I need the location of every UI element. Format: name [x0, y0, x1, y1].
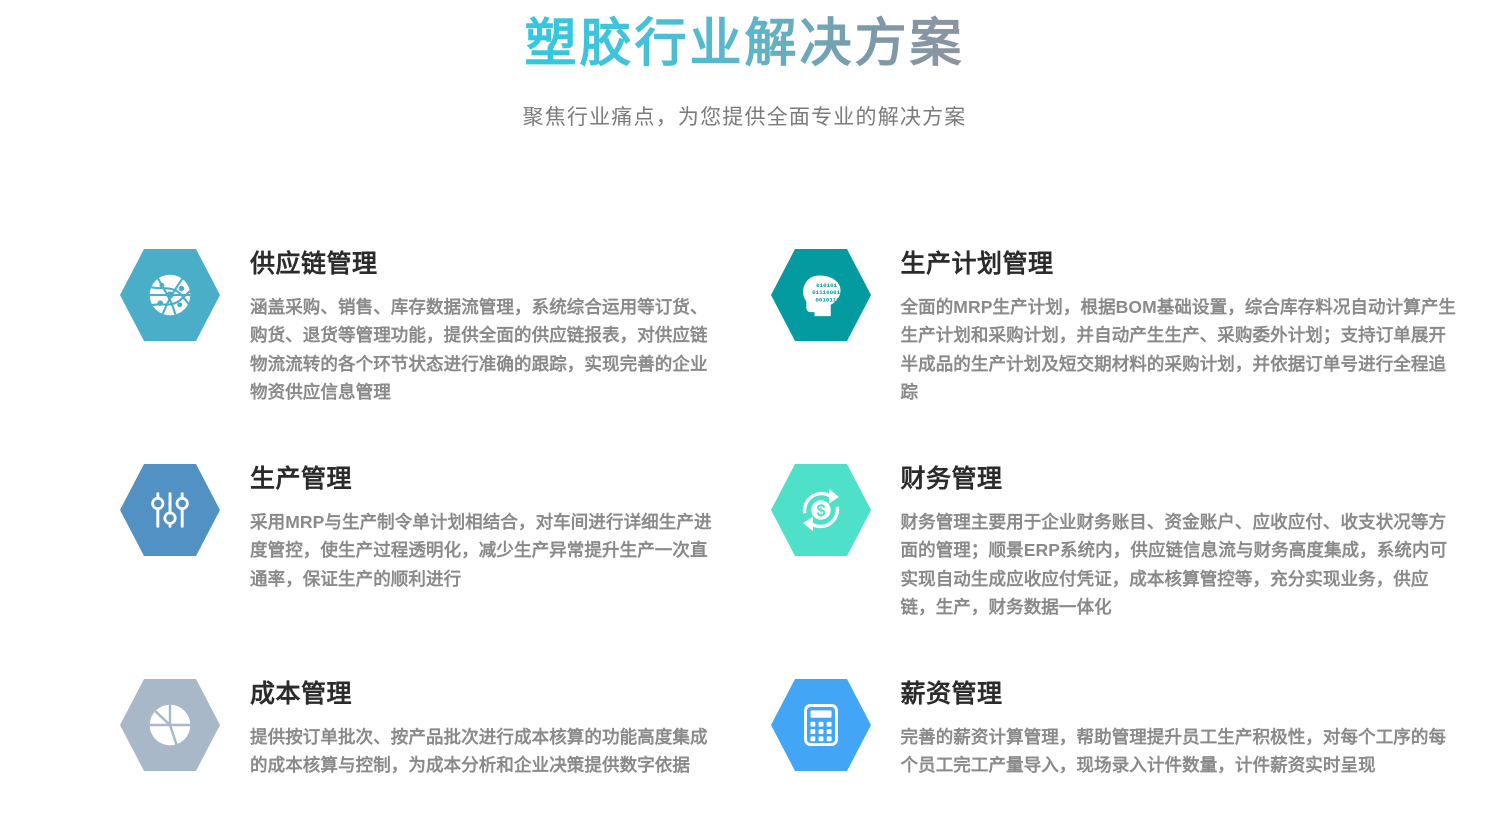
svg-text:010101: 010101 — [816, 282, 838, 289]
card-title: 生产管理 — [250, 464, 722, 494]
pie-chart-icon — [144, 699, 196, 751]
icon-hexagon-production-management — [118, 462, 222, 558]
icon-hexagon-production-plan: 010101 01110001 0010110 — [769, 247, 873, 343]
icon-hexagon-supply-chain — [118, 247, 222, 343]
card-text: 生产计划管理 全面的MRP生产计划，根据BOM基础设置，综合库存料况自动计算产生… — [901, 243, 1457, 406]
svg-text:01110001: 01110001 — [812, 289, 841, 296]
card-description: 涵盖采购、销售、库存数据流管理，系统综合运用等订货、购货、退货等管理功能，提供全… — [250, 293, 722, 406]
icon-hexagon-finance: $ — [769, 462, 873, 558]
calculator-icon — [795, 699, 847, 751]
feature-grid: 供应链管理 涵盖采购、销售、库存数据流管理，系统综合运用等订货、购货、退货等管理… — [0, 243, 1489, 836]
card-text: 供应链管理 涵盖采购、销售、库存数据流管理，系统综合运用等订货、购货、退货等管理… — [250, 243, 722, 406]
card-title: 成本管理 — [250, 679, 722, 709]
sliders-icon — [144, 484, 196, 536]
svg-text:$: $ — [816, 502, 825, 520]
feature-card-cost[interactable]: 成本管理 提供按订单批次、按产品批次进行成本核算的功能高度集成的成本核算与控制，… — [0, 673, 745, 836]
card-text: 生产管理 采用MRP与生产制令单计划相结合，对车间进行详细生产进度管控，使生产过… — [250, 458, 722, 593]
feature-card-production-plan[interactable]: 010101 01110001 0010110 生产计划管理 全面的MRP生产计… — [745, 243, 1489, 458]
card-text: 财务管理 财务管理主要用于企业财务账目、资金账户、应收应付、收支状况等方面的管理… — [901, 458, 1457, 621]
globe-network-icon — [144, 269, 196, 321]
page-subtitle: 聚焦行业痛点，为您提供全面专业的解决方案 — [0, 101, 1489, 131]
page-header: 塑胶行业解决方案 聚焦行业痛点，为您提供全面专业的解决方案 — [0, 0, 1489, 131]
feature-card-supply-chain[interactable]: 供应链管理 涵盖采购、销售、库存数据流管理，系统综合运用等订货、购货、退货等管理… — [0, 243, 745, 458]
feature-card-payroll[interactable]: 薪资管理 完善的薪资计算管理，帮助管理提升员工生产积极性，对每个工序的每个员工完… — [745, 673, 1489, 836]
card-title: 生产计划管理 — [901, 249, 1457, 279]
card-description: 全面的MRP生产计划，根据BOM基础设置，综合库存料况自动计算产生生产计划和采购… — [901, 293, 1457, 406]
feature-card-finance[interactable]: $ 财务管理 财务管理主要用于企业财务账目、资金账户、应收应付、收支状况等方面的… — [745, 458, 1489, 673]
page-title: 塑胶行业解决方案 — [524, 12, 964, 77]
solution-page: 塑胶行业解决方案 聚焦行业痛点，为您提供全面专业的解决方案 — [0, 0, 1489, 836]
card-description: 完善的薪资计算管理，帮助管理提升员工生产积极性，对每个工序的每个员工完工产量导入… — [901, 723, 1457, 780]
card-title: 财务管理 — [901, 464, 1457, 494]
card-title: 薪资管理 — [901, 679, 1457, 709]
card-description: 提供按订单批次、按产品批次进行成本核算的功能高度集成的成本核算与控制，为成本分析… — [250, 723, 722, 780]
svg-text:0010110: 0010110 — [815, 297, 840, 304]
head-binary-icon: 010101 01110001 0010110 — [795, 269, 847, 321]
card-description: 采用MRP与生产制令单计划相结合，对车间进行详细生产进度管控，使生产过程透明化，… — [250, 508, 722, 593]
icon-hexagon-payroll — [769, 677, 873, 773]
card-text: 薪资管理 完善的薪资计算管理，帮助管理提升员工生产积极性，对每个工序的每个员工完… — [901, 673, 1457, 780]
feature-card-production-management[interactable]: 生产管理 采用MRP与生产制令单计划相结合，对车间进行详细生产进度管控，使生产过… — [0, 458, 745, 673]
card-text: 成本管理 提供按订单批次、按产品批次进行成本核算的功能高度集成的成本核算与控制，… — [250, 673, 722, 780]
dollar-refresh-icon: $ — [795, 484, 847, 536]
card-description: 财务管理主要用于企业财务账目、资金账户、应收应付、收支状况等方面的管理；顺景ER… — [901, 508, 1457, 621]
icon-hexagon-cost — [118, 677, 222, 773]
card-title: 供应链管理 — [250, 249, 722, 279]
